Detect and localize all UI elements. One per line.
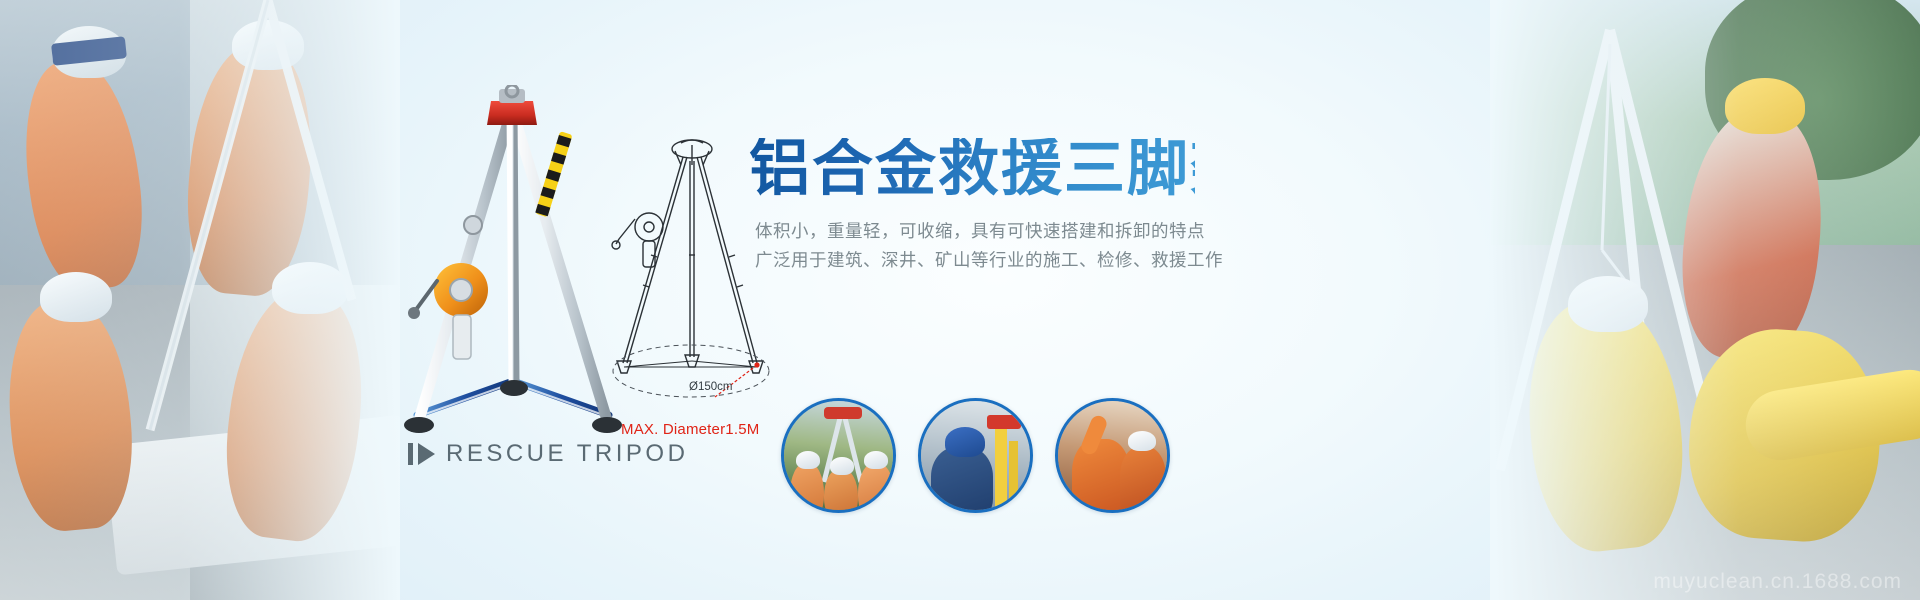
rescuer-figure xyxy=(1517,293,1692,557)
play-triangle-icon xyxy=(418,443,435,465)
helmet-icon xyxy=(1128,431,1156,451)
photo-tile-6 xyxy=(1490,245,1920,600)
rescuer-figure xyxy=(858,463,894,513)
watermark-text: muyuclean.cn.1688.com xyxy=(1653,570,1902,594)
rescuer-figure xyxy=(790,463,824,513)
helmet-icon xyxy=(945,427,985,457)
helmet-icon xyxy=(1725,78,1805,134)
helmet-icon xyxy=(232,20,304,70)
helmet-icon xyxy=(40,272,112,322)
right-tripod-overlay xyxy=(1490,0,1920,600)
thumbnail-winch-inspection[interactable] xyxy=(918,398,1033,513)
photo-tile-1 xyxy=(0,0,220,300)
subtitle-line-1: 体积小，重量轻，可收缩，具有可快速搭建和拆卸的特点 xyxy=(755,219,1195,246)
helmet-band xyxy=(51,36,127,66)
right-photo-collage xyxy=(1490,0,1920,600)
ground-tarp xyxy=(104,415,400,576)
helmet-icon xyxy=(830,457,854,475)
thumbnail-confined-space-rescue[interactable] xyxy=(1055,398,1170,513)
tripod-head xyxy=(824,407,862,419)
left-tripod-overlay xyxy=(0,0,400,600)
right-scene xyxy=(1490,0,1920,600)
photo-tile-3 xyxy=(0,285,220,600)
equipment-frame xyxy=(995,425,1007,513)
thumbnail-row xyxy=(760,398,1190,513)
play-bar-icon xyxy=(408,443,413,465)
left-photo-collage xyxy=(0,0,400,600)
helmet-icon xyxy=(52,26,126,78)
equipment-head xyxy=(987,415,1021,429)
thumbnail-field-rescue[interactable] xyxy=(781,398,896,513)
headline-block: 铝合金救援三脚架 体积小，重量轻，可收缩，具有可快速搭建和拆卸的特点 广泛用于建… xyxy=(755,138,1195,275)
tree-foliage xyxy=(1705,0,1920,180)
product-label-text: RESCUE TRIPOD xyxy=(446,440,688,468)
max-diameter-annotation: MAX. Diameter1.5M xyxy=(621,421,759,438)
photo-tile-2 xyxy=(190,0,400,300)
left-scene xyxy=(0,0,400,600)
rescuer-figure xyxy=(13,53,154,296)
rescuer-figure xyxy=(824,469,858,513)
subtitle-line-2: 广泛用于建筑、深井、矿山等行业的施工、检修、救援工作 xyxy=(755,248,1195,275)
equipment-frame xyxy=(1009,441,1018,513)
rescuer-figure xyxy=(0,295,140,535)
diameter-annotation: Ø150cm xyxy=(689,381,732,393)
page-title: 铝合金救援三脚架 xyxy=(749,138,1195,199)
photo-tile-5 xyxy=(1490,0,1920,260)
helmet-icon xyxy=(1568,276,1648,332)
helmet-icon xyxy=(864,451,888,469)
product-banner: Ø150cm MAX. Diameter1.5M 铝合金救援三脚架 体积小，重量… xyxy=(0,0,1920,600)
helmet-icon xyxy=(796,451,820,469)
helmet-icon xyxy=(272,262,348,314)
ventilation-hose xyxy=(1741,365,1920,465)
rescuer-figure xyxy=(179,40,320,300)
rescuer-figure xyxy=(1672,104,1832,367)
photo-tile-4 xyxy=(190,285,400,600)
rescuer-figure xyxy=(1683,324,1887,547)
rescuer-figure xyxy=(215,283,374,547)
product-image-tripod-color xyxy=(395,85,630,460)
rescuer-figure xyxy=(1120,447,1166,513)
product-label: RESCUE TRIPOD xyxy=(408,440,688,468)
